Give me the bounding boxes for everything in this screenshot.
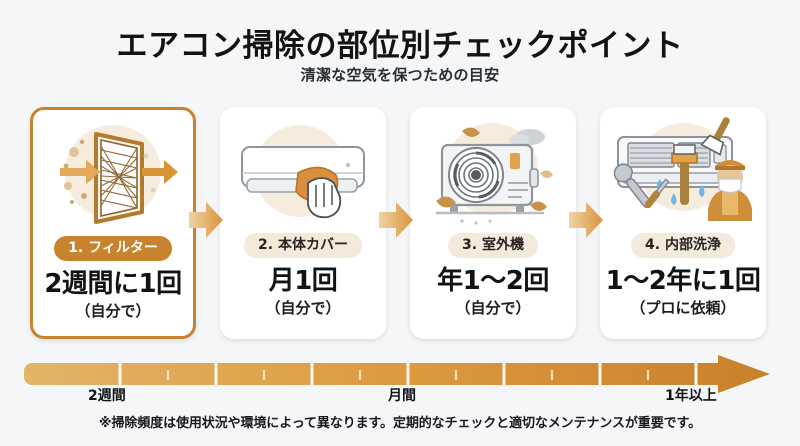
card-badge: 4. 内部洗浄 <box>631 233 735 258</box>
timeline-label-end: 1年以上 <box>665 385 717 405</box>
checkpoint-card-filter[interactable]: 1. フィルター 2週間に1回 （自分で） <box>30 107 196 339</box>
card-frequency: 月1回 <box>269 268 338 294</box>
card-frequency: 1〜2年に1回 <box>606 268 761 294</box>
card-who: （自分で） <box>75 304 150 319</box>
wall-unit-wipe-icon <box>228 113 378 229</box>
checkpoint-card-internal-wash[interactable]: 4. 内部洗浄 1〜2年に1回 （プロに依頼） <box>600 107 766 339</box>
page-subtitle: 清潔な空気を保つための目安 <box>0 64 800 85</box>
deep-clean-pro-icon <box>608 113 758 229</box>
arrow-right-icon <box>379 200 413 240</box>
timeline-label-start: 2週間 <box>88 385 126 405</box>
infographic-root: エアコン掃除の部位別チェックポイント 清潔な空気を保つための目安 <box>0 0 800 446</box>
checkpoint-card-body-cover[interactable]: 2. 本体カバー 月1回 （自分で） <box>220 107 386 339</box>
card-badge: 1. フィルター <box>54 236 172 261</box>
outdoor-unit-icon <box>418 113 568 229</box>
checkpoint-card-outdoor-unit[interactable]: 3. 室外機 年1〜2回 （自分で） <box>410 107 576 339</box>
footnote-text: ※掃除頻度は使用状況や環境によって異なります。定期的なチェックと適切なメンテナン… <box>0 412 800 431</box>
air-filter-icon <box>38 116 188 232</box>
timeline-label-middle: 月間 <box>388 385 416 405</box>
card-badge: 2. 本体カバー <box>244 233 362 258</box>
card-who: （プロに依頼） <box>630 301 735 316</box>
card-badge: 3. 室外機 <box>448 233 538 258</box>
card-who: （自分で） <box>455 301 530 316</box>
card-frequency: 年1〜2回 <box>437 268 549 294</box>
page-title: エアコン掃除の部位別チェックポイント <box>0 20 800 65</box>
arrow-right-icon <box>189 200 223 240</box>
arrow-right-icon <box>569 200 603 240</box>
card-who: （自分で） <box>265 301 340 316</box>
card-frequency: 2週間に1回 <box>44 271 181 297</box>
